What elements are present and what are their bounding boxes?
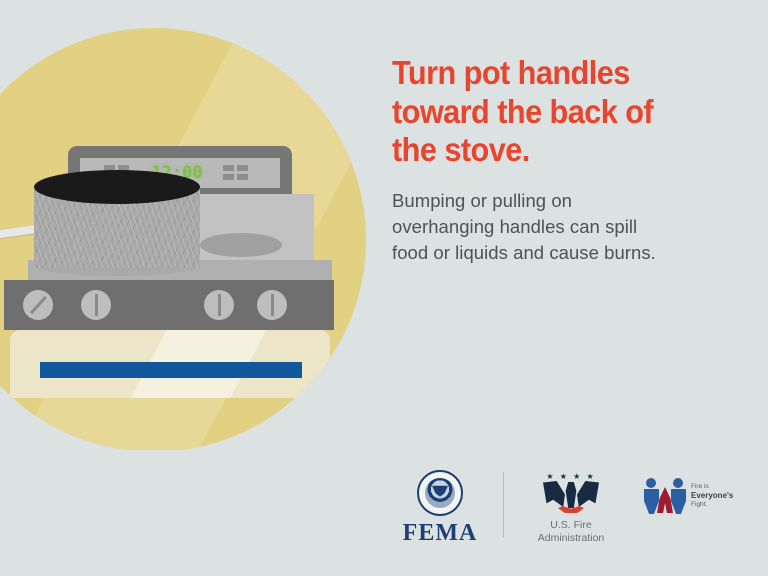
body-line-1: Bumping or pulling on [392,188,740,214]
body-text: Bumping or pulling on overhanging handle… [392,188,740,267]
usfa-wordmark: U.S. Fire Administration [518,519,624,545]
stove-knob-2 [81,290,111,320]
usfa-eagle-icon: ★ ★ ★ ★ ★ [542,470,600,516]
body-line-2: overhanging handles can spill [392,214,740,240]
fief-wordmark: Fire is Everyone's Fight. [691,483,733,509]
fief-person-left [644,478,659,514]
headline-line-3: the stove. [392,131,716,170]
dhs-seal-inner [425,478,455,508]
knob-control-panel [4,280,334,330]
logo-divider [503,472,504,538]
stove-knob-3 [204,290,234,320]
eagle-wing-left [543,481,565,507]
usfa-logo: ★ ★ ★ ★ ★ U.S. Fire Administration [518,470,624,545]
fire-is-everyones-fight-logo: Fire is Everyone's Fight. [644,478,756,514]
poster-canvas: 12:00 [0,0,768,576]
yellow-circle-background: 12:00 [0,28,366,450]
headline-line-1: Turn pot handles [392,54,716,93]
fief-line-3: Fight. [691,501,733,509]
dhs-seal-icon [417,470,463,516]
stove-knob-4 [257,290,287,320]
body-line-3: food or liquids and cause burns. [392,240,740,266]
headline: Turn pot handles toward the back of the … [392,54,716,170]
control-buttons-right [223,165,248,180]
fief-person-right [671,478,686,514]
oven-door-handle [40,362,302,378]
fief-mark-icon [644,478,686,514]
headline-line-2: toward the back of [392,93,716,132]
logo-bar: FEMA ★ ★ ★ ★ ★ U.S. Fire Administration [386,468,756,554]
pot-opening [34,170,200,204]
message-block: Turn pot handles toward the back of the … [392,54,740,267]
usfa-line-2: Administration [518,532,624,545]
usfa-stars: ★ ★ ★ ★ ★ [542,470,600,483]
fief-line-2: Everyone's [691,491,733,501]
fema-wordmark: FEMA [394,520,486,547]
fema-logo: FEMA [394,470,486,547]
eagle-wing-right [577,481,599,507]
usfa-line-1: U.S. Fire [518,519,624,532]
stove-knob-1 [23,290,53,320]
stove-illustration: 12:00 [0,0,400,450]
burner-rear-right [200,233,282,257]
fief-line-1: Fire is [691,483,733,491]
